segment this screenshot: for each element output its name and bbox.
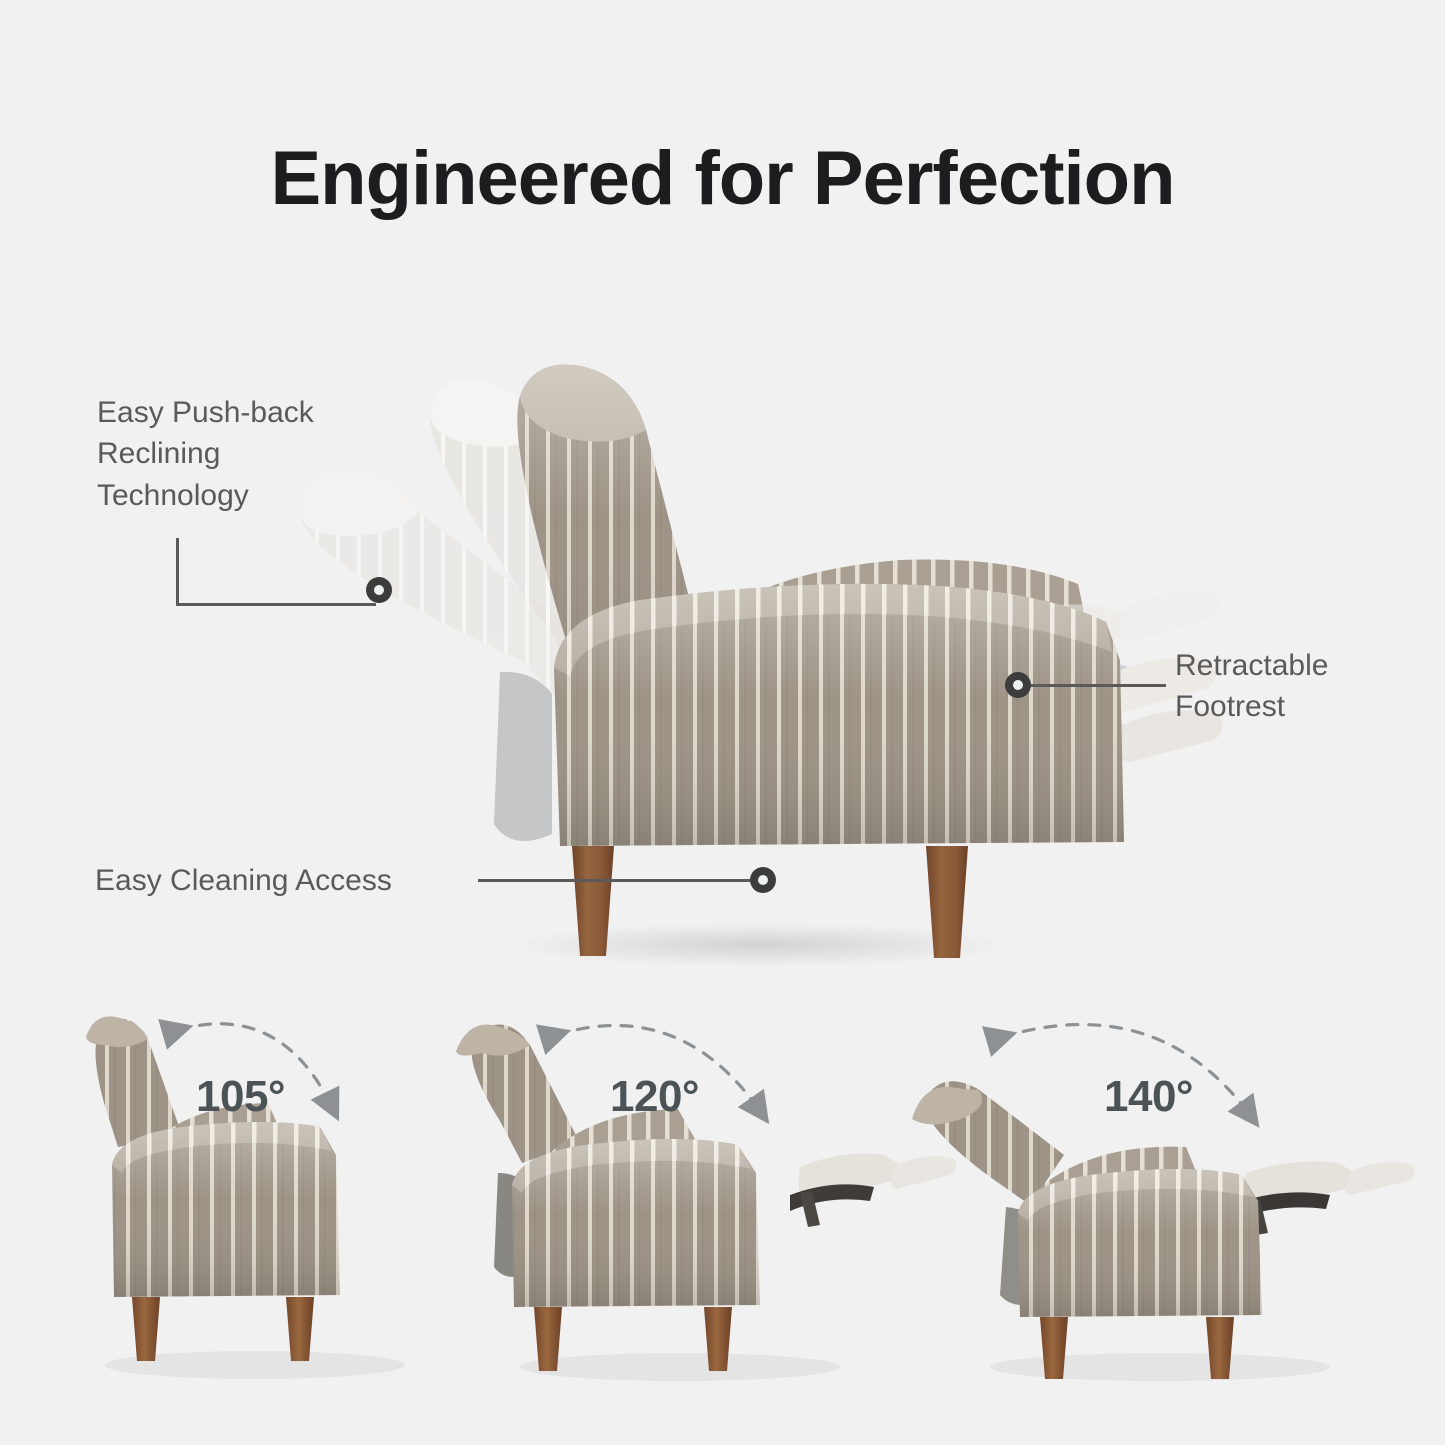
marker-dot-reclining — [366, 577, 392, 603]
marker-dot-cleaning — [750, 867, 776, 893]
callout-reclining-label: Easy Push-back Reclining Technology — [97, 392, 314, 516]
callout-cleaning-label: Easy Cleaning Access — [95, 860, 392, 901]
stage-105 — [86, 1016, 405, 1379]
recline-stage-row — [0, 995, 1445, 1415]
stage-120 — [456, 1025, 956, 1381]
marker-dot-footrest — [1005, 672, 1031, 698]
infographic-canvas: Engineered for Perfection — [0, 0, 1445, 1445]
callout-footrest-label: Retractable Footrest — [1175, 645, 1328, 728]
hero-side-mechanism — [494, 672, 552, 841]
angle-label-140: 140° — [1104, 1072, 1193, 1122]
angle-label-120: 120° — [610, 1072, 699, 1122]
angle-label-105: 105° — [196, 1072, 285, 1122]
hero-arm-body — [554, 584, 1124, 846]
